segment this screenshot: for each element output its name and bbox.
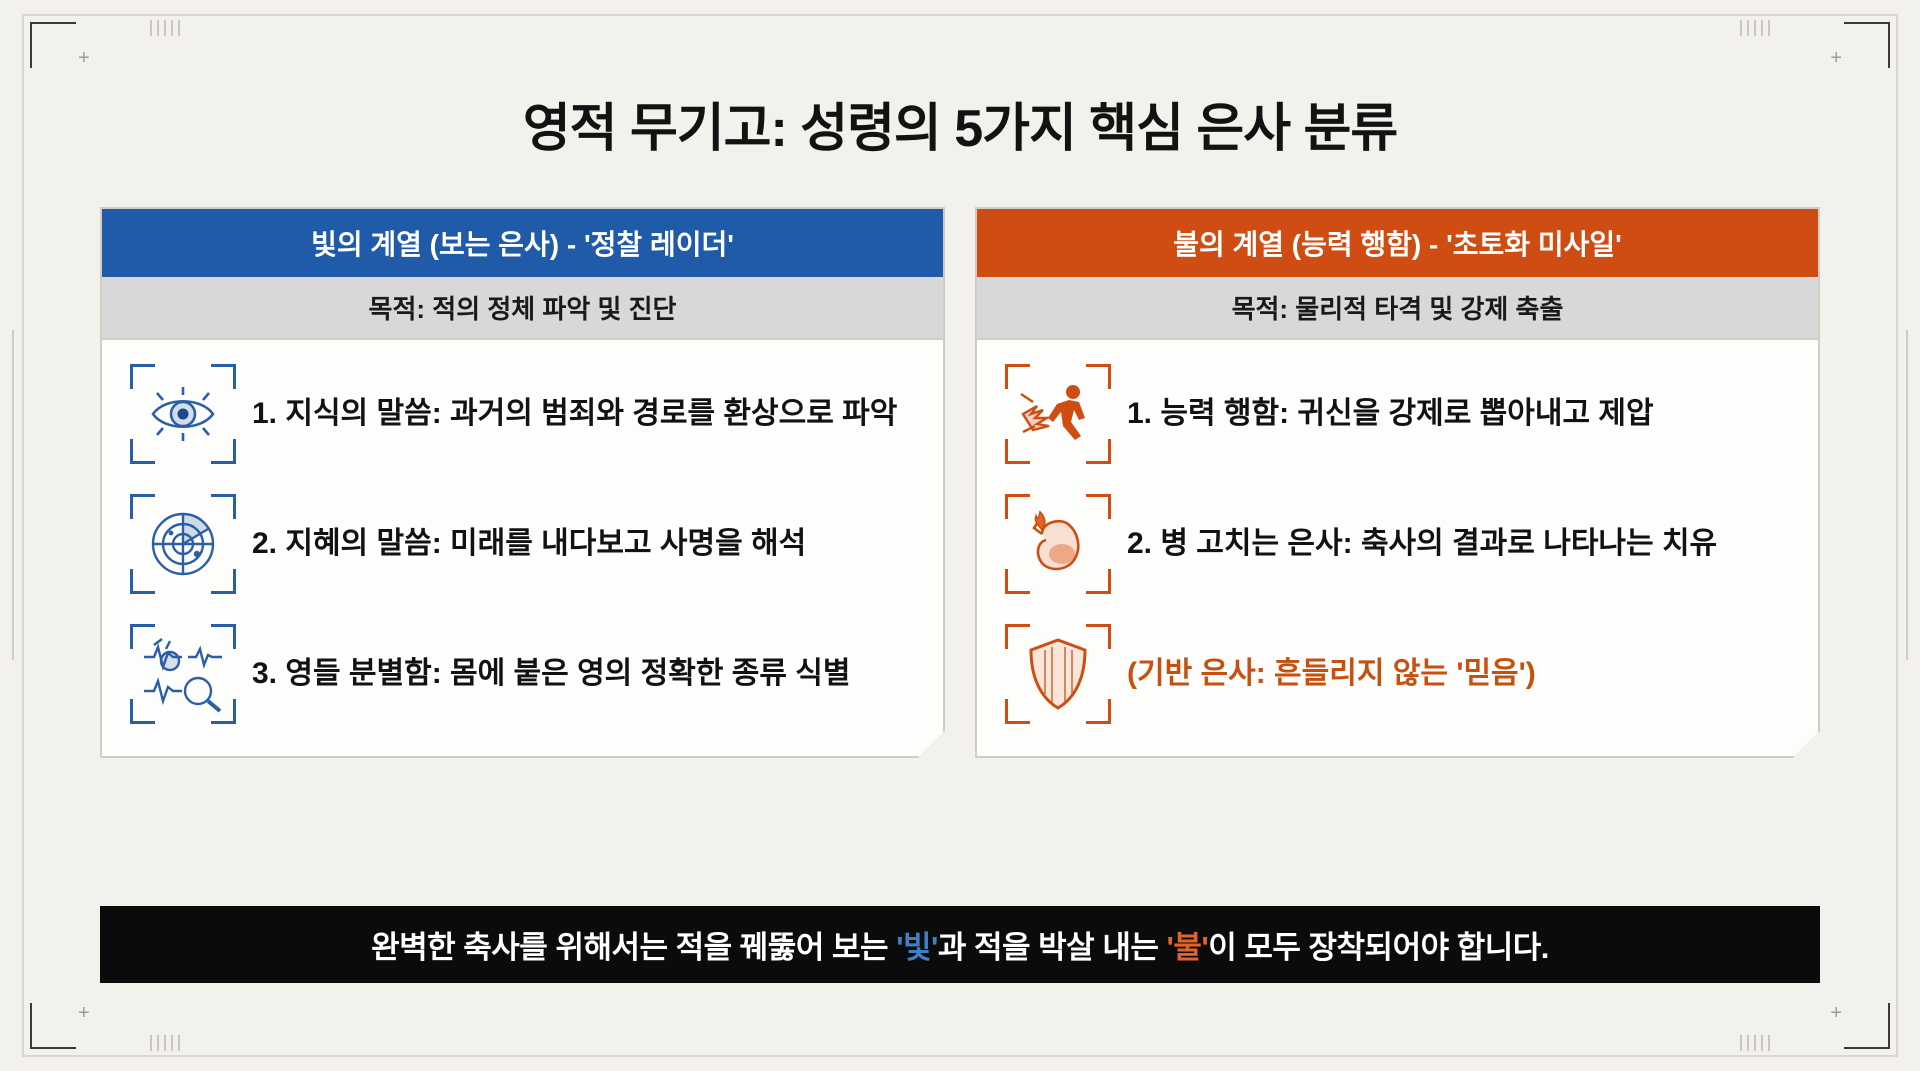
footer-highlight-fire: '불' <box>1166 930 1208 965</box>
page-title: 영적 무기고: 성령의 5가지 핵심 은사 분류 <box>0 86 1920 161</box>
plus-marker-icon: + <box>78 48 90 68</box>
list-item-label: 3. 영들 분별함: 몸에 붙은 영의 정확한 종류 식별 <box>252 654 851 694</box>
list-item[interactable]: (기반 은사: 흔들리지 않는 '믿음') <box>999 618 1796 730</box>
column-light-subheader: 목적: 적의 정체 파악 및 진단 <box>102 277 943 340</box>
column-fire: 불의 계열 (능력 행함) - '초토화 미사일' 목적: 물리적 타격 및 강… <box>975 207 1820 758</box>
tick-marks-icon <box>1740 20 1770 36</box>
footer-text-part2: 과 적을 박살 내는 <box>938 930 1167 965</box>
footer-text-part3: 이 모두 장착되어야 합니다. <box>1208 930 1549 965</box>
edge-line <box>12 330 14 660</box>
plus-marker-icon: + <box>1830 48 1842 68</box>
column-fire-items: 1. 능력 행함: 귀신을 강제로 뽑아내고 제압 2. <box>977 340 1818 756</box>
list-item[interactable]: 1. 능력 행함: 귀신을 강제로 뽑아내고 제압 <box>999 358 1796 470</box>
list-item-label: 2. 병 고치는 은사: 축사의 결과로 나타나는 치유 <box>1127 524 1717 564</box>
column-fire-header: 불의 계열 (능력 행함) - '초토화 미사일' <box>977 209 1818 277</box>
list-item[interactable]: 2. 지혜의 말씀: 미래를 내다보고 사명을 해석 <box>124 488 921 600</box>
footer-text-part1: 완벽한 축사를 위해서는 적을 꿰뚫어 보는 <box>371 930 896 965</box>
list-item[interactable]: 3. 영들 분별함: 몸에 붙은 영의 정확한 종류 식별 <box>124 618 921 730</box>
tick-marks-icon <box>150 20 180 36</box>
list-item-label: 2. 지혜의 말씀: 미래를 내다보고 사명을 해석 <box>252 524 806 564</box>
running-figure-blast-icon <box>999 358 1117 470</box>
plus-marker-icon: + <box>1830 1003 1842 1023</box>
list-item-label: 1. 지식의 말씀: 과거의 범죄와 경로를 환상으로 파악 <box>252 394 897 434</box>
corner-bracket-bottom-right <box>1834 993 1890 1049</box>
columns-container: 빛의 계열 (보는 은사) - '정찰 레이더' 목적: 적의 정체 파악 및 … <box>100 207 1820 758</box>
radar-icon <box>124 488 242 600</box>
column-fire-subheader: 목적: 물리적 타격 및 강제 축출 <box>977 277 1818 340</box>
footer-highlight-light: '빛' <box>896 930 938 965</box>
corner-bracket-top-right <box>1834 22 1890 78</box>
tick-marks-icon <box>1740 1035 1770 1051</box>
edge-line <box>1906 330 1908 660</box>
list-item-label: 1. 능력 행함: 귀신을 강제로 뽑아내고 제압 <box>1127 394 1654 434</box>
column-light-header: 빛의 계열 (보는 은사) - '정찰 레이더' <box>102 209 943 277</box>
list-item[interactable]: 2. 병 고치는 은사: 축사의 결과로 나타나는 치유 <box>999 488 1796 600</box>
list-item-label: (기반 은사: 흔들리지 않는 '믿음') <box>1127 654 1536 694</box>
tick-marks-icon <box>150 1035 180 1051</box>
eye-icon <box>124 358 242 470</box>
shield-icon <box>999 618 1117 730</box>
column-light: 빛의 계열 (보는 은사) - '정찰 레이더' 목적: 적의 정체 파악 및 … <box>100 207 945 758</box>
plus-marker-icon: + <box>78 1003 90 1023</box>
list-item[interactable]: 1. 지식의 말씀: 과거의 범죄와 경로를 환상으로 파악 <box>124 358 921 470</box>
column-light-items: 1. 지식의 말씀: 과거의 범죄와 경로를 환상으로 파악 <box>102 340 943 756</box>
stomach-flame-icon <box>999 488 1117 600</box>
magnifier-waveform-icon <box>124 618 242 730</box>
footer-banner: 완벽한 축사를 위해서는 적을 꿰뚫어 보는 '빛'과 적을 박살 내는 '불'… <box>100 906 1820 983</box>
